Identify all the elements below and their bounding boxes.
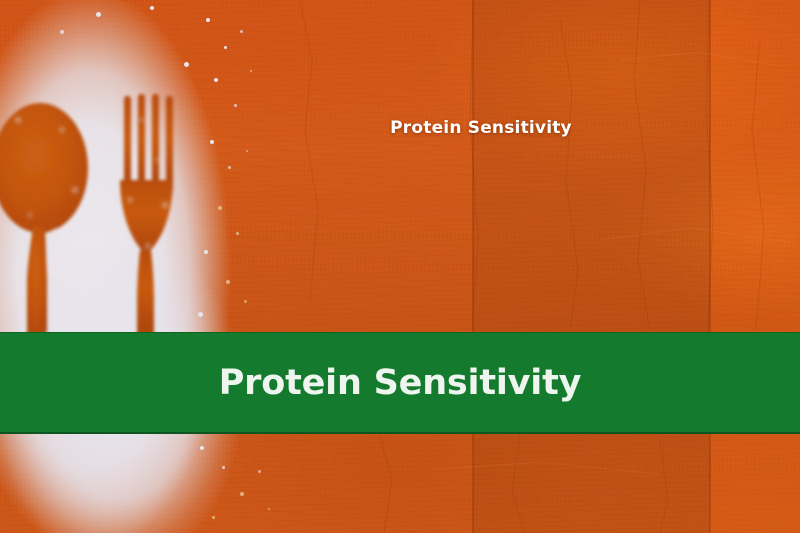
banner-bottom-edge [0, 432, 800, 434]
banner-top-edge [0, 332, 800, 333]
banner-title: Protein Sensitivity [219, 363, 582, 403]
image-canvas: Protein Sensitivity Protein Sensitivity [0, 0, 800, 533]
green-title-banner: Protein Sensitivity [0, 332, 800, 434]
photo-overlay-caption: Protein Sensitivity [0, 118, 800, 138]
cutlery-silhouettes [0, 0, 800, 533]
